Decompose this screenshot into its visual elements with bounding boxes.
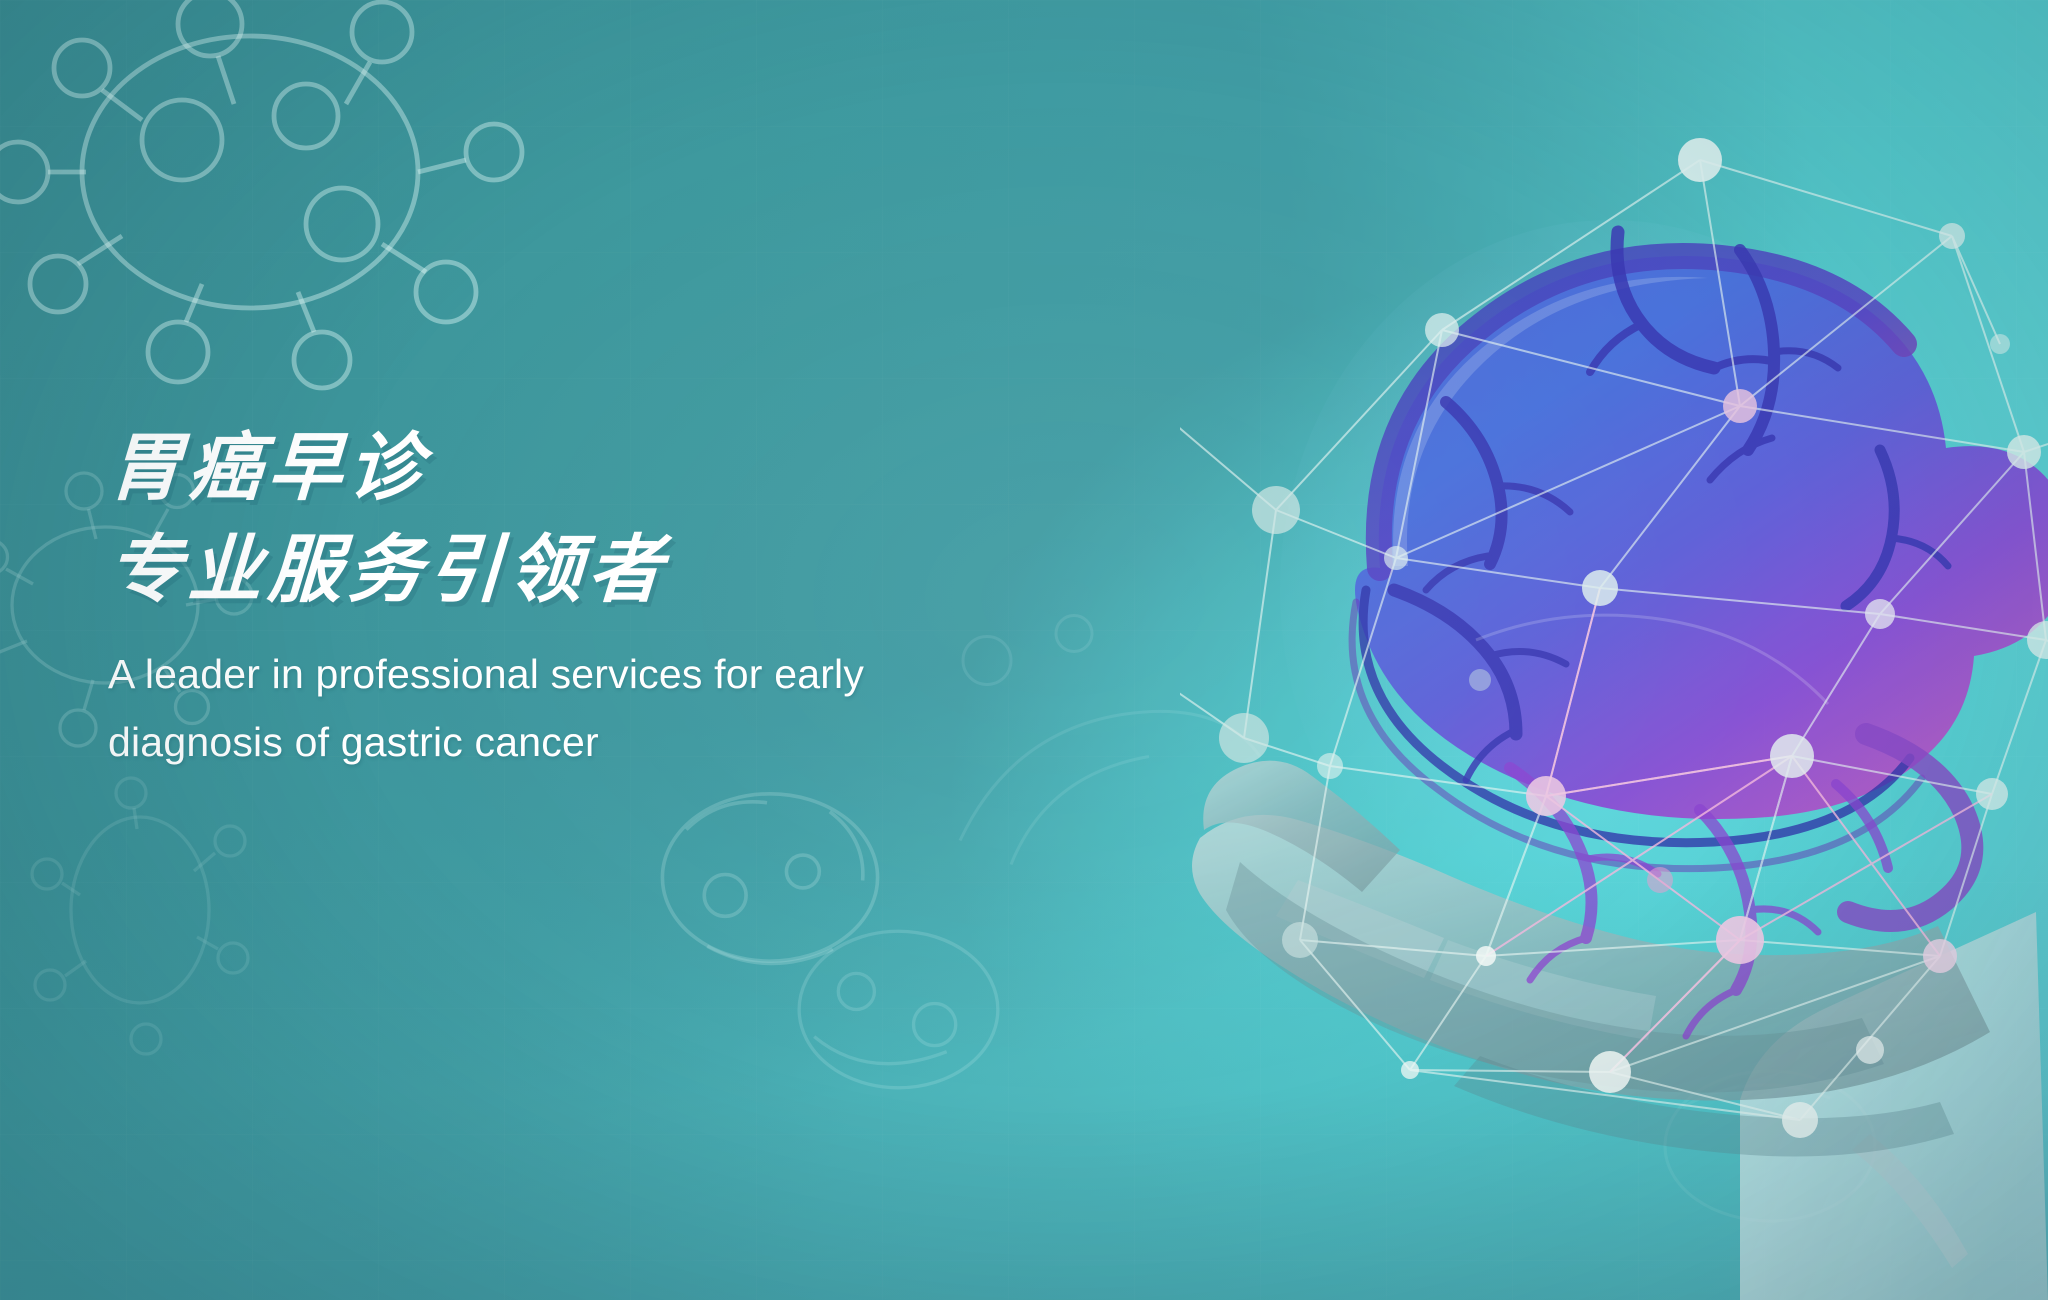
- hero-banner: 胃癌早诊 专业服务引领者 A leader in professional se…: [0, 0, 2048, 1300]
- background-vignette: [0, 0, 2048, 1300]
